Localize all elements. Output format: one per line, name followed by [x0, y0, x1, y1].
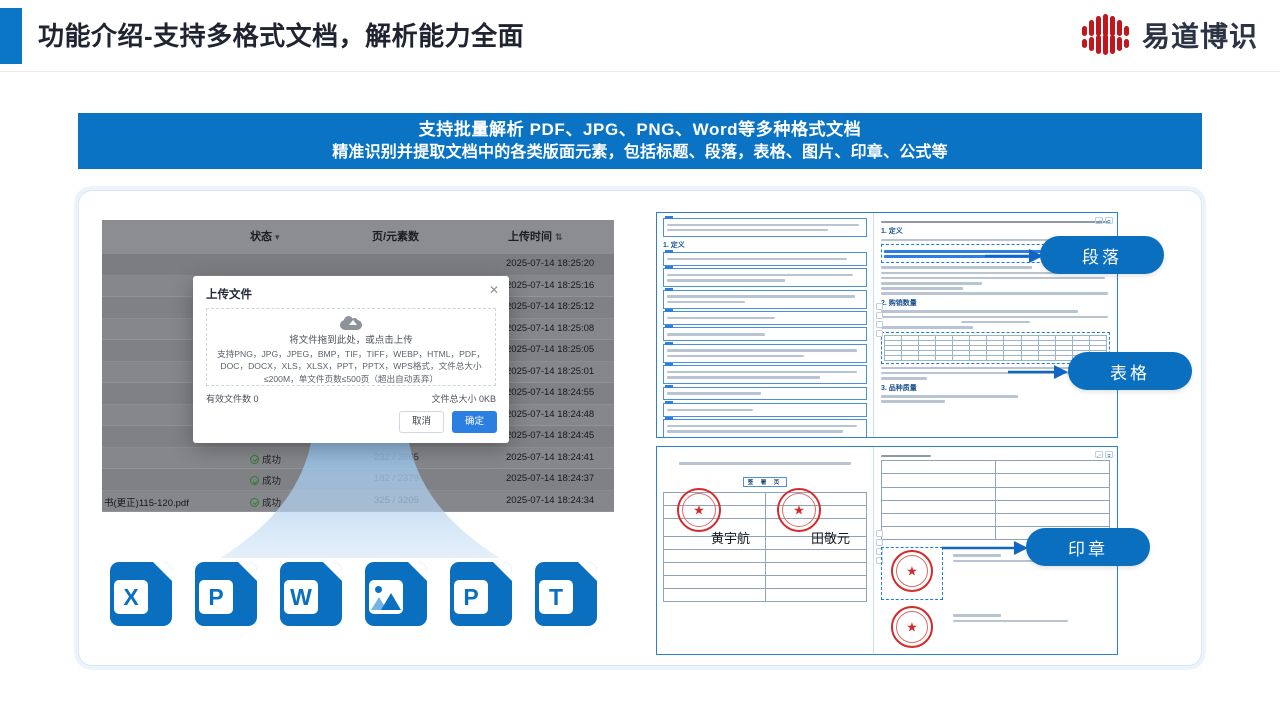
file-type-letter: P — [199, 580, 233, 614]
powerpoint-file-icon: P — [450, 562, 512, 626]
total-size-label: 文件总大小 — [431, 394, 476, 404]
callout-seal[interactable]: 印章 — [1026, 528, 1150, 566]
signature-name: 黄宇航 — [711, 528, 750, 547]
upload-time-cell: 2025-07-14 18:25:20 — [506, 258, 594, 269]
dialog-actions: 取消 确定 — [399, 411, 497, 433]
expand-icon[interactable]: ⤢ — [1095, 451, 1103, 458]
upload-time-cell: 2025-07-14 18:25:08 — [506, 323, 594, 334]
pane-toolbar[interactable]: ⤢⧉ — [1095, 217, 1113, 224]
arrow-to-paragraph — [985, 244, 1045, 268]
column-header-time-label: 上传时间 — [508, 231, 552, 243]
banner-line-1: 支持批量解析 PDF、JPG、PNG、Word等多种格式文档 — [419, 119, 862, 142]
file-type-letter: W — [284, 580, 318, 614]
upload-time-cell: 2025-07-14 18:25:01 — [506, 366, 594, 377]
tool-icon[interactable] — [876, 312, 883, 319]
cancel-button[interactable]: 取消 — [399, 411, 444, 433]
extracted-seal-icon: ★ — [891, 550, 933, 592]
seal-highlight-box: ★ — [881, 547, 943, 600]
upload-time-cell: 2025-07-14 18:25:12 — [506, 301, 594, 312]
copy-icon[interactable]: ⧉ — [1105, 217, 1113, 224]
file-type-letter: P — [454, 580, 488, 614]
header-divider — [0, 71, 1280, 72]
tool-icon[interactable] — [876, 330, 883, 337]
page-header: 功能介绍-支持多格式文档，解析能力全面 易道博识 — [0, 0, 1280, 72]
upload-time-cell: 2025-07-14 18:24:45 — [506, 430, 594, 441]
company-seal-icon: ★ — [677, 488, 721, 532]
word-file-icon: W — [280, 562, 342, 626]
output-section-heading: 1. 定义 — [881, 226, 1110, 236]
annotation-box — [663, 344, 867, 363]
brand-name: 易道博识 — [1142, 15, 1258, 55]
pdf-file-icon: P — [195, 562, 257, 626]
image-file-icon — [365, 562, 427, 626]
file-type-letter: T — [539, 580, 573, 614]
confirm-button[interactable]: 确定 — [452, 411, 497, 433]
column-header-status-label: 状态 — [250, 231, 272, 243]
header-accent-bar — [0, 8, 22, 64]
output-section-heading: 2. 购销数量 — [881, 298, 1110, 308]
page-title: 功能介绍-支持多格式文档，解析能力全面 — [38, 16, 524, 53]
supported-file-types: XPWPT — [110, 562, 610, 626]
annotation-box — [663, 387, 867, 401]
annotation-box — [663, 365, 867, 384]
total-size-value: 0KB — [479, 394, 496, 404]
expand-icon[interactable]: ⤢ — [1095, 217, 1103, 224]
upload-dialog[interactable]: 上传文件 ✕ 将文件拖到此处，或点击上传 支持PNG，JPG，JPEG，BMP，… — [193, 276, 509, 443]
valid-count-value: 0 — [254, 394, 259, 404]
dropzone-format-text: 支持PNG，JPG，JPEG，BMP，TIF，TIFF，WEBP，HTML，PD… — [207, 348, 495, 385]
chevron-down-icon: ▾ — [275, 232, 280, 242]
upload-time-cell: 2025-07-14 18:24:48 — [506, 409, 594, 420]
arrow-to-seal — [942, 536, 1030, 560]
banner-line-2: 精准识别并提取文档中的各类版面元素，包括标题、段落，表格、图片、印章、公式等 — [332, 142, 948, 164]
extracted-seal-icon: ★ — [891, 606, 933, 648]
column-header-status[interactable]: 状态▾ — [250, 228, 280, 244]
sort-icon: ⇅ — [555, 232, 563, 242]
image-glyph — [369, 580, 403, 614]
annotation-box — [663, 419, 867, 437]
valid-count-label: 有效文件数 — [206, 394, 251, 404]
tool-icon[interactable] — [876, 530, 883, 537]
annotation-box — [663, 252, 867, 266]
tool-icon[interactable] — [876, 321, 883, 328]
signature-name: 田敬元 — [811, 528, 850, 547]
upload-time-cell: 2025-07-14 18:24:37 — [506, 473, 594, 484]
annotation-box — [663, 218, 867, 237]
file-type-letter: X — [114, 580, 148, 614]
annotation-box — [663, 327, 867, 341]
table-row[interactable]: 2025-07-14 18:25:20 — [102, 254, 614, 276]
close-icon[interactable]: ✕ — [489, 284, 499, 296]
signature-page-title: 签 署 页 — [743, 477, 788, 487]
excel-file-icon: X — [110, 562, 172, 626]
file-dropzone[interactable]: 将文件拖到此处，或点击上传 支持PNG，JPG，JPEG，BMP，TIF，TIF… — [206, 308, 496, 386]
yidao-boshi-logo-mark — [1080, 14, 1132, 56]
column-header-pages[interactable]: 页/元素数 — [372, 228, 419, 244]
callout-table[interactable]: 表格 — [1068, 352, 1192, 390]
cloud-upload-icon — [340, 316, 362, 329]
table-header-row: 状态▾ 页/元素数 上传时间⇅ — [102, 220, 614, 254]
annotation-box — [663, 311, 867, 325]
arrow-to-table — [1008, 360, 1070, 384]
feature-banner: 支持批量解析 PDF、JPG、PNG、Word等多种格式文档 精准识别并提取文档… — [78, 113, 1202, 169]
contract-original-pane: 1. 定义 2. 购销数量 — [657, 213, 873, 437]
section-heading: 1. 定义 — [663, 240, 867, 250]
copy-icon[interactable]: ⧉ — [1105, 451, 1113, 458]
column-header-time[interactable]: 上传时间⇅ — [508, 228, 563, 244]
dialog-stats: 有效文件数 0 文件总大小 0KB — [206, 392, 496, 405]
annotation-box — [663, 290, 867, 309]
company-seal-icon: ★ — [777, 488, 821, 532]
brand-logo: 易道博识 — [1080, 14, 1258, 56]
upload-time-cell: 2025-07-14 18:24:41 — [506, 452, 594, 463]
side-toolbar[interactable] — [876, 303, 883, 337]
annotation-box — [663, 403, 867, 417]
upload-time-cell: 2025-07-14 18:24:55 — [506, 387, 594, 398]
dialog-title: 上传文件 — [206, 286, 252, 302]
file-name-cell: 书(更正)115-120.pdf — [104, 495, 189, 509]
annotation-box — [663, 268, 867, 287]
tool-icon[interactable] — [876, 303, 883, 310]
signature-page-pane: 签 署 页 ★ ★ 黄宇航 田敬元 — [657, 447, 873, 654]
dropzone-main-text: 将文件拖到此处，或点击上传 — [289, 332, 413, 346]
upload-time-cell: 2025-07-14 18:25:05 — [506, 344, 594, 355]
upload-time-cell: 2025-07-14 18:24:34 — [506, 495, 594, 506]
total-size-group: 文件总大小 0KB — [431, 392, 496, 405]
callout-paragraph[interactable]: 段落 — [1040, 236, 1164, 274]
upload-time-cell: 2025-07-14 18:25:16 — [506, 280, 594, 291]
text-file-icon: T — [535, 562, 597, 626]
pane-toolbar[interactable]: ⤢⧉ — [1095, 451, 1113, 458]
